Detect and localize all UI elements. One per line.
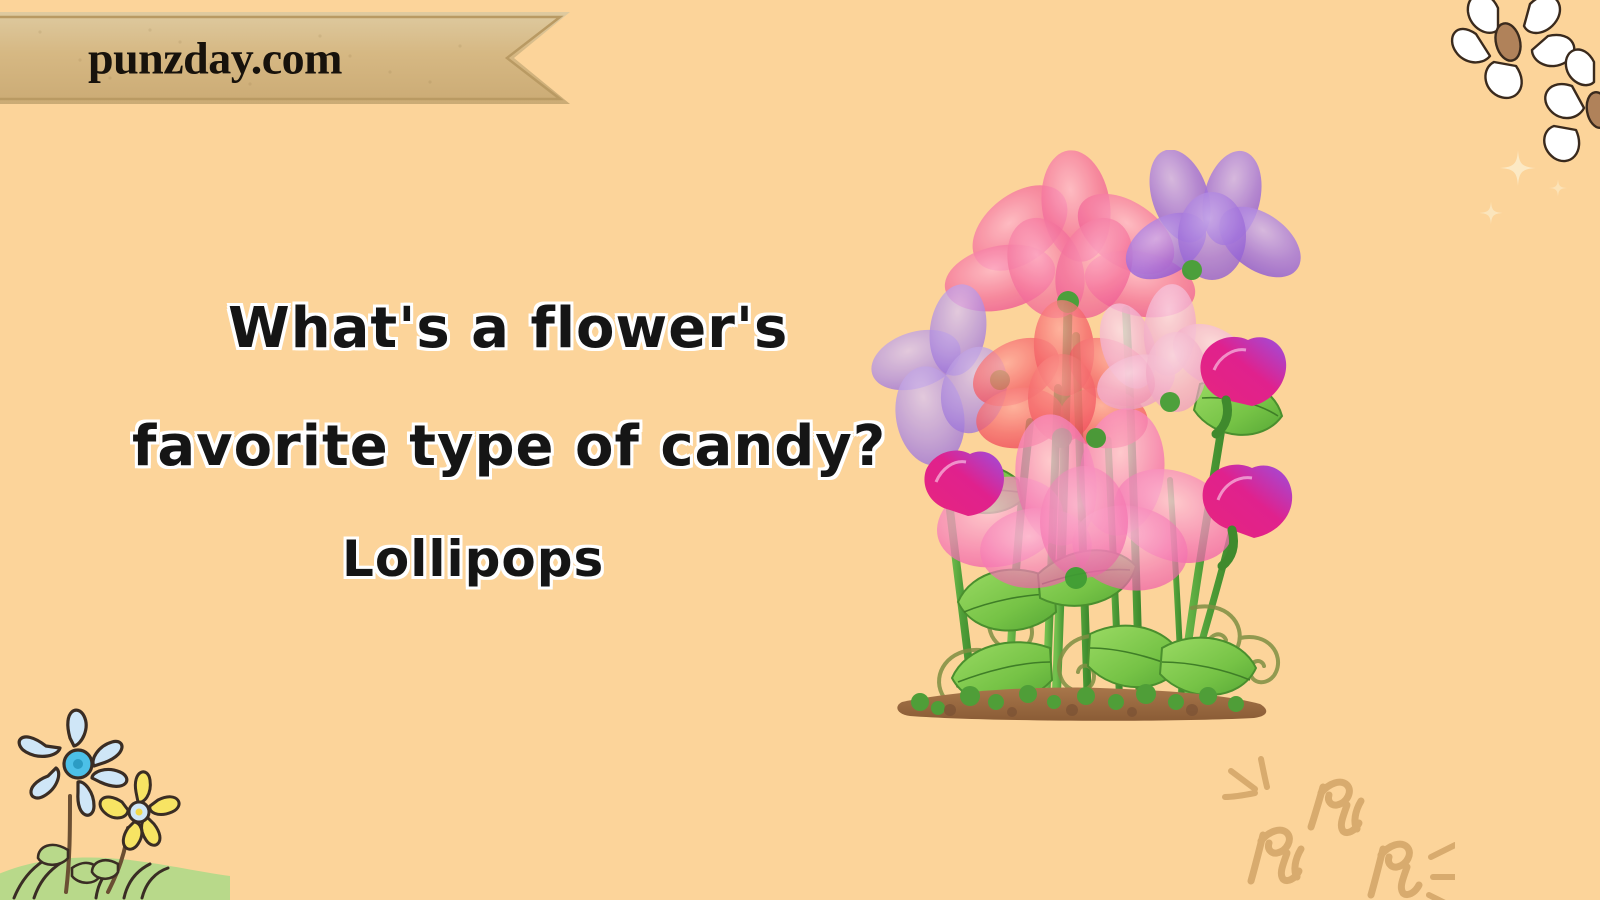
watercolor-flower-bouquet — [840, 150, 1320, 730]
sparkle-icon — [1478, 200, 1504, 226]
white-blossom-1 — [1452, 0, 1574, 98]
soil-base — [897, 684, 1266, 721]
site-label: punzday.com — [88, 32, 342, 85]
sparkle-icon — [1548, 178, 1568, 198]
joke-line-2: favorite type of candy? — [132, 414, 886, 479]
doodle-flowers-grass — [0, 700, 230, 900]
punzday-ribbon: punzday.com — [0, 12, 572, 104]
joke-line-3: Lollipops — [342, 530, 604, 588]
joke-line-1: What's a flower's — [228, 296, 788, 361]
white-blossom-cluster — [1390, 0, 1600, 190]
poster-canvas: punzday.com What's a flower's favorite t… — [0, 0, 1600, 900]
ha-ha-ha-doodle — [1215, 735, 1455, 900]
sparkle-icon — [1498, 148, 1538, 188]
